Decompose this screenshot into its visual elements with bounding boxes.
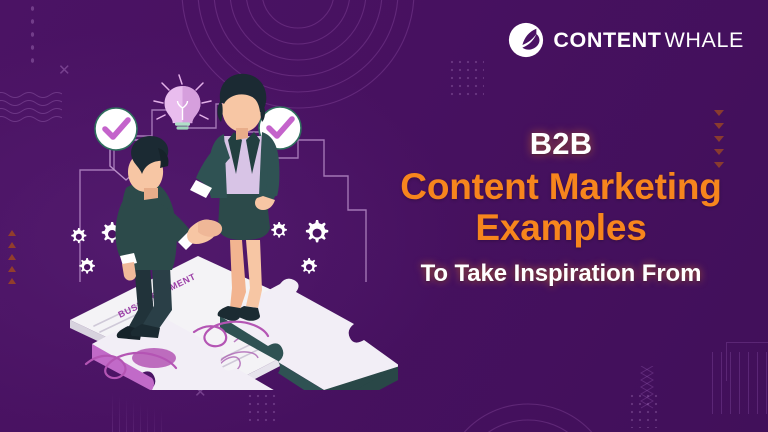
- concentric-arcs-icon: [418, 370, 638, 432]
- triangle-icon: [8, 266, 16, 272]
- lightbulb-icon: [154, 75, 211, 130]
- triangle-icon: [8, 242, 16, 248]
- triangle-icon: [8, 254, 16, 260]
- zigzag-icon: [640, 366, 656, 410]
- headline-kicker: B2B: [372, 128, 750, 161]
- right-frame-decoration: [726, 342, 768, 381]
- headline-block: B2B Content Marketing Examples To Take I…: [372, 128, 750, 288]
- floor-accent-ellipse: [132, 348, 176, 368]
- headline-main-line1: Content Marketing: [372, 167, 750, 208]
- content-whale-logo[interactable]: CONTENTWHALE: [508, 22, 744, 58]
- headline-subtitle: To Take Inspiration From: [372, 261, 750, 287]
- handshake-icon: [187, 219, 222, 244]
- gears-left-icon: [71, 222, 122, 274]
- logo-word-content: CONTENT: [553, 28, 661, 52]
- triangle-icon: [8, 230, 16, 236]
- left-dot-column-decoration: [28, 2, 35, 64]
- whale-circle-logo-icon: [508, 22, 544, 58]
- dot-grid-decoration-lower: [628, 392, 662, 428]
- vertical-lines-decoration-right: [712, 352, 768, 414]
- logo-word-whale: WHALE: [665, 28, 744, 52]
- chevron-down-icon: [714, 110, 724, 116]
- zigzag-decoration: [640, 366, 656, 410]
- left-triangles-decoration: [8, 230, 16, 290]
- dot-grid-decoration-upper: [448, 58, 484, 96]
- logo-wordmark: CONTENTWHALE: [553, 28, 744, 53]
- illustration-svg: BUSINESS AGREEMENT: [48, 70, 398, 390]
- triangle-icon: [8, 278, 16, 284]
- headline-main-line2: Examples: [372, 208, 750, 249]
- bottom-arcs-decoration: [418, 370, 638, 432]
- dot-grid-decoration-right: [246, 392, 278, 426]
- business-handshake-puzzle-illustration: BUSINESS AGREEMENT: [48, 70, 398, 390]
- gears-right-icon: [271, 220, 328, 274]
- banner-canvas: ✕ ✕: [0, 0, 768, 432]
